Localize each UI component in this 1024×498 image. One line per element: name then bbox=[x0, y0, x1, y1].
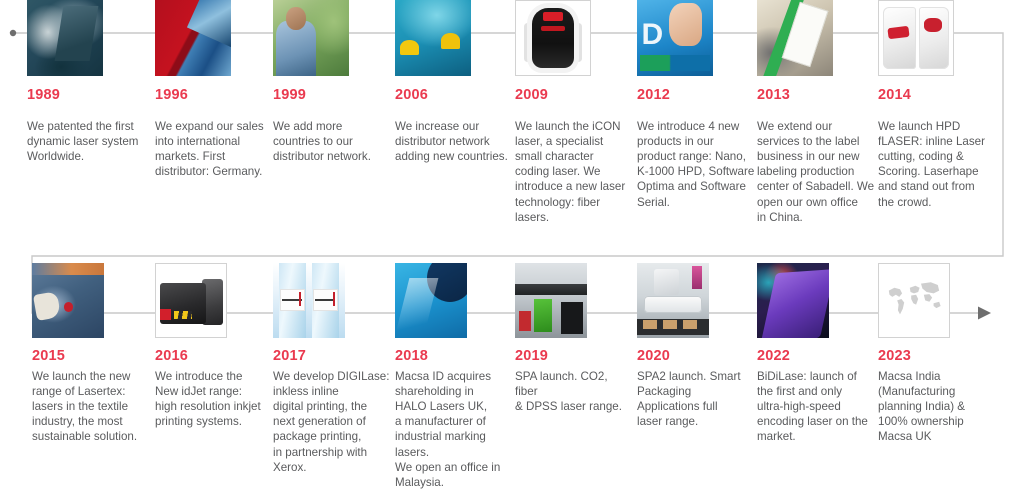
denim-jeans-photo-icon bbox=[32, 263, 104, 338]
timeline-item-2012[interactable]: 2012 We introduce 4 new products in our … bbox=[637, 0, 755, 210]
event-description: We launch HPD fLASER: inline Laser cutti… bbox=[878, 119, 996, 210]
thumbnail-2013 bbox=[757, 0, 833, 76]
purple-laser-photo-icon bbox=[757, 263, 829, 338]
event-description: We expand our sales into international m… bbox=[155, 119, 273, 180]
year-label: 2006 bbox=[395, 88, 513, 103]
businessman-phone-photo-icon bbox=[273, 0, 349, 76]
thumbnail-2009 bbox=[515, 0, 591, 76]
thumbnail-2006 bbox=[395, 0, 471, 76]
event-description: We extend our services to the label busi… bbox=[757, 119, 875, 225]
blue-abstract-photo-icon bbox=[395, 263, 467, 338]
spa2-conveyor-photo-icon bbox=[637, 263, 709, 338]
red-blue-abstract-photo-icon bbox=[155, 0, 231, 76]
thumbnail-2023 bbox=[878, 263, 950, 338]
worker-laser-photo-icon bbox=[27, 0, 103, 76]
timeline-item-1999[interactable]: 1999 We add more countries to our distri… bbox=[273, 0, 391, 164]
event-description: We add more countries to our distributor… bbox=[273, 119, 391, 165]
timeline-start-dot bbox=[10, 30, 16, 36]
year-label: 1999 bbox=[273, 88, 391, 103]
thumbnail-2014 bbox=[878, 0, 954, 76]
timeline-item-2017[interactable]: 2017 We develop DIGILase: inkless inline… bbox=[273, 263, 391, 475]
event-description: We launch the iCON laser, a specialist s… bbox=[515, 119, 633, 225]
year-label: 2012 bbox=[637, 88, 755, 103]
year-label: 2018 bbox=[395, 349, 513, 364]
year-label: 2022 bbox=[757, 349, 875, 364]
event-description: SPA launch. CO2, fiber & DPSS laser rang… bbox=[515, 369, 633, 415]
thumbnail-2017 bbox=[273, 263, 345, 338]
timeline-item-1989[interactable]: 1989 We patented the first dynamic laser… bbox=[27, 0, 145, 164]
year-label: 2009 bbox=[515, 88, 633, 103]
timeline-item-2006[interactable]: 2006 We increase our distributor network… bbox=[395, 0, 513, 164]
thumbnail-2022 bbox=[757, 263, 829, 338]
timeline-item-2014[interactable]: 2014 We launch HPD fLASER: inline Laser … bbox=[878, 0, 996, 210]
icon-laser-unit-photo-icon bbox=[516, 1, 590, 75]
spa-machine-photo-icon bbox=[515, 263, 587, 338]
year-label: 2013 bbox=[757, 88, 875, 103]
year-label: 2015 bbox=[32, 349, 150, 364]
thumbnail-2020 bbox=[637, 263, 709, 338]
event-description: BiDiLase: launch of the first and only u… bbox=[757, 369, 875, 445]
event-description: We patented the first dynamic laser syst… bbox=[27, 119, 145, 165]
workers-helmets-photo-icon bbox=[395, 0, 471, 76]
event-description: We increase our distributor network addi… bbox=[395, 119, 513, 165]
timeline-item-2015[interactable]: 2015 We launch the new range of Lasertex… bbox=[32, 263, 150, 445]
event-description: We introduce 4 new products in our produ… bbox=[637, 119, 755, 210]
timeline-item-2018[interactable]: 2018 Macsa ID acquires shareholding in H… bbox=[395, 263, 513, 490]
water-bottles-label-photo-icon bbox=[273, 263, 345, 338]
world-map-graphic-icon bbox=[879, 264, 949, 337]
year-label: 2019 bbox=[515, 349, 633, 364]
year-label: 2016 bbox=[155, 349, 273, 364]
shoe-label-photo-icon bbox=[757, 0, 833, 76]
year-label: 2017 bbox=[273, 349, 391, 364]
event-description: Macsa India (Manufacturing planning Indi… bbox=[878, 369, 996, 445]
timeline-item-2013[interactable]: 2013 We extend our services to the label… bbox=[757, 0, 875, 225]
blue-product-pack-photo-icon bbox=[637, 0, 713, 76]
thumbnail-2018 bbox=[395, 263, 467, 338]
year-label: 2014 bbox=[878, 88, 996, 103]
year-label: 1996 bbox=[155, 88, 273, 103]
idjet-printer-photo-icon bbox=[156, 264, 226, 337]
timeline-infographic: 1989 We patented the first dynamic laser… bbox=[0, 0, 1024, 498]
thumbnail-2015 bbox=[32, 263, 104, 338]
timeline-item-2016[interactable]: 2016 We introduce the New idJet range: h… bbox=[155, 263, 273, 429]
year-label: 2020 bbox=[637, 349, 755, 364]
event-description: SPA2 launch. Smart Packaging Application… bbox=[637, 369, 755, 430]
timeline-item-2023[interactable]: 2023 Macsa India (Manufacturing planning… bbox=[878, 263, 996, 445]
year-label: 2023 bbox=[878, 349, 996, 364]
event-description: Macsa ID acquires shareholding in HALO L… bbox=[395, 369, 513, 491]
thumbnail-1999 bbox=[273, 0, 349, 76]
timeline-item-2022[interactable]: 2022 BiDiLase: launch of the first and o… bbox=[757, 263, 875, 445]
timeline-item-1996[interactable]: 1996 We expand our sales into internatio… bbox=[155, 0, 273, 179]
timeline-item-2019[interactable]: 2019 SPA launch. CO2, fiber & DPSS laser… bbox=[515, 263, 633, 414]
year-label: 1989 bbox=[27, 88, 145, 103]
event-description: We develop DIGILase: inkless inline digi… bbox=[273, 369, 391, 475]
thumbnail-2016 bbox=[155, 263, 227, 338]
snack-bags-photo-icon bbox=[879, 1, 953, 75]
thumbnail-2019 bbox=[515, 263, 587, 338]
timeline-item-2020[interactable]: 2020 SPA2 launch. Smart Packaging Applic… bbox=[637, 263, 755, 429]
thumbnail-1996 bbox=[155, 0, 231, 76]
event-description: We introduce the New idJet range: high r… bbox=[155, 369, 273, 430]
thumbnail-2012 bbox=[637, 0, 713, 76]
event-description: We launch the new range of Lasertex: las… bbox=[32, 369, 150, 445]
thumbnail-1989 bbox=[27, 0, 103, 76]
timeline-item-2009[interactable]: 2009 We launch the iCON laser, a special… bbox=[515, 0, 633, 225]
